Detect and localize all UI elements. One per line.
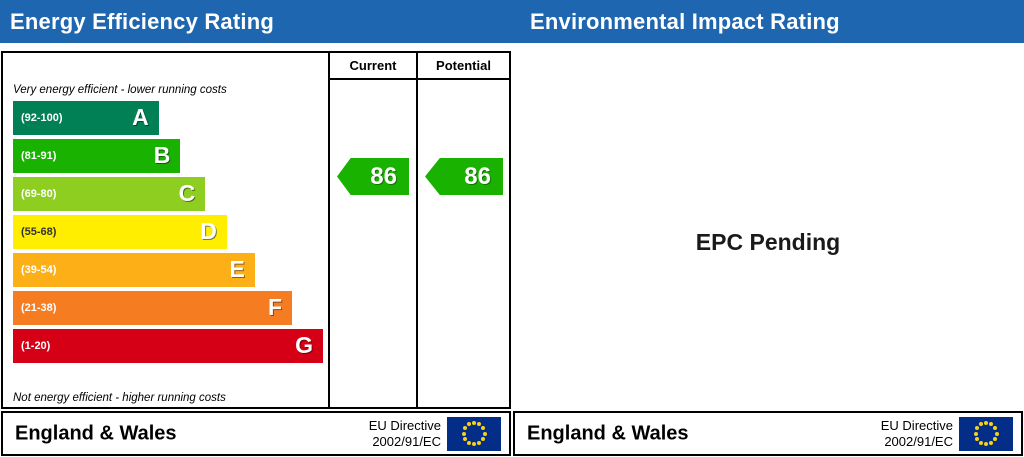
eu-flag-star (462, 432, 466, 436)
eu-flag-star (975, 437, 979, 441)
rating-band-range-b: (81-91) (21, 150, 56, 162)
rating-band-letter-d: D (200, 218, 217, 245)
column-divider-potential (416, 80, 418, 407)
current-rating-arrow: 86 (337, 158, 409, 195)
footer-right-region: England & Wales (527, 422, 689, 445)
potential-rating-arrow: 86 (425, 158, 503, 195)
rating-band-range-g: (1-20) (21, 340, 50, 352)
epc-pending-status: EPC Pending (512, 229, 1024, 256)
rating-band-f: (21-38)F (13, 291, 292, 325)
eu-flag-star (989, 422, 993, 426)
footer-left-region: England & Wales (15, 422, 177, 445)
eu-flag-star (979, 422, 983, 426)
rating-band-a: (92-100)A (13, 101, 159, 135)
eu-flag-star (481, 437, 485, 441)
eu-flag-star (463, 437, 467, 441)
rating-band-letter-a: A (132, 104, 149, 131)
environmental-impact-title-bar: Environmental Impact Rating (512, 0, 1024, 43)
eu-flag-star (974, 432, 978, 436)
eu-flag-star (979, 441, 983, 445)
energy-efficiency-title-bar: Energy Efficiency Rating (0, 0, 512, 43)
epc-certificate-graphic: Energy Efficiency Rating Environmental I… (0, 0, 1024, 457)
footer-left-directive-line1: EU Directive (369, 418, 441, 434)
rating-band-e: (39-54)E (13, 253, 255, 287)
eu-flag-star (993, 426, 997, 430)
rating-band-g: (1-20)G (13, 329, 323, 363)
eu-flag-star (984, 421, 988, 425)
caption-very-efficient: Very energy efficient - lower running co… (13, 84, 227, 96)
rating-band-range-a: (92-100) (21, 112, 63, 124)
eu-flag-star (993, 437, 997, 441)
eu-flag-star (467, 441, 471, 445)
eu-flag-star (483, 432, 487, 436)
footer-left-directive-line2: 2002/91/EC (369, 434, 441, 450)
eu-flag-star (477, 441, 481, 445)
column-header-potential: Potential (416, 53, 509, 80)
rating-band-letter-e: E (229, 256, 244, 283)
environmental-impact-chart: EPC Pending (512, 43, 1024, 409)
eu-flag-star (472, 442, 476, 446)
footer-left-directive: EU Directive 2002/91/EC (369, 418, 441, 450)
eu-flag-star (995, 432, 999, 436)
footer-left: England & Wales EU Directive 2002/91/EC (1, 411, 511, 456)
rating-band-range-e: (39-54) (21, 264, 56, 276)
environmental-impact-title: Environmental Impact Rating (512, 0, 1024, 43)
footer-right-directive-line1: EU Directive (881, 418, 953, 434)
rating-band-letter-f: F (268, 294, 282, 321)
eu-flag-star (467, 422, 471, 426)
rating-band-b: (81-91)B (13, 139, 180, 173)
eu-flag-star (989, 441, 993, 445)
eu-flag-icon (959, 417, 1013, 451)
eu-flag-star (472, 421, 476, 425)
footer-right-directive-line2: 2002/91/EC (881, 434, 953, 450)
rating-band-range-c: (69-80) (21, 188, 56, 200)
energy-efficiency-chart: Current Potential Very energy efficient … (1, 51, 511, 409)
rating-band-d: (55-68)D (13, 215, 227, 249)
footer-right: England & Wales EU Directive 2002/91/EC (513, 411, 1023, 456)
eu-flag-star (477, 422, 481, 426)
rating-band-c: (69-80)C (13, 177, 205, 211)
caption-not-efficient: Not energy efficient - higher running co… (13, 392, 226, 404)
rating-band-list: (92-100)A(81-91)B(69-80)C(55-68)D(39-54)… (13, 101, 323, 367)
rating-band-range-f: (21-38) (21, 302, 56, 314)
eu-flag-star (481, 426, 485, 430)
eu-flag-star (975, 426, 979, 430)
column-header-current: Current (328, 53, 416, 80)
eu-flag-icon (447, 417, 501, 451)
eu-flag-star (463, 426, 467, 430)
rating-band-letter-c: C (179, 180, 196, 207)
rating-band-range-d: (55-68) (21, 226, 56, 238)
footer-right-directive: EU Directive 2002/91/EC (881, 418, 953, 450)
energy-efficiency-title: Energy Efficiency Rating (0, 0, 512, 43)
eu-flag-star (984, 442, 988, 446)
rating-band-letter-b: B (154, 142, 171, 169)
rating-band-letter-g: G (295, 332, 313, 359)
column-divider-current (328, 80, 330, 407)
